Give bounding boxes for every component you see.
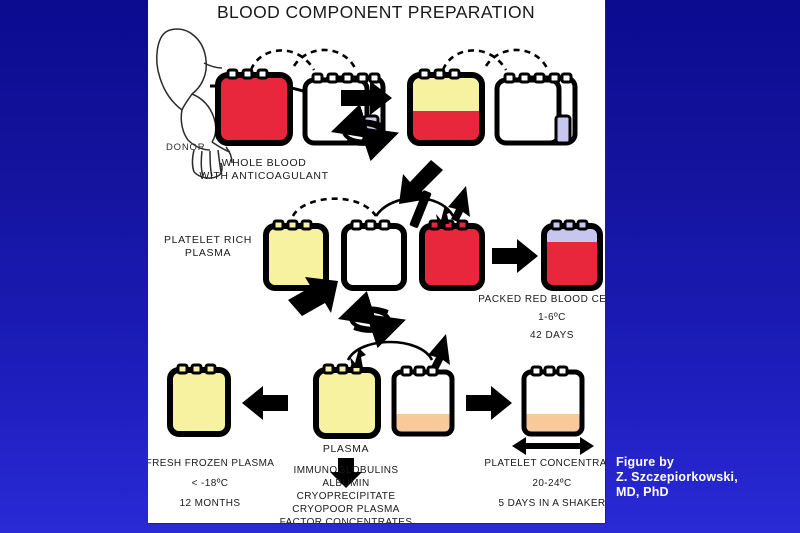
credit-line-3: MD, PhD [616, 485, 791, 500]
centrifuge-rotation-2-icon [351, 308, 389, 330]
derivative-item: FACTOR CONCENTRATES [280, 517, 413, 523]
whole-blood-label-2: WITH ANTICOAGULANT [199, 170, 328, 182]
arrow-up-right-pointer-icon [448, 186, 470, 222]
derivative-item: ALBUMIN [322, 478, 369, 489]
credit-line-1: Figure by [616, 455, 791, 470]
derivative-item: CRYOPRECIPITATE [297, 491, 396, 502]
platelet-temp: 20-24ºC [532, 478, 571, 489]
figure-credit: Figure by Z. Szczepiorkowski, MD, PhD [616, 455, 791, 500]
tubing-row1b [443, 50, 548, 70]
ffp-temp: < -18ºC [192, 478, 229, 489]
bag-packed-red-cells-icon [544, 221, 600, 288]
bag-platelet-concentrate-icon [524, 367, 582, 434]
derivative-item: CRYOPOOR PLASMA [292, 504, 400, 515]
bag-platelet-rich-plasma-icon [266, 221, 326, 288]
blood-bag-empty-icon [305, 74, 379, 143]
tubing-row1 [251, 50, 356, 70]
platelet-shelf: 5 DAYS IN A SHAKER [498, 498, 605, 509]
shaker-arrow-icon [512, 437, 594, 455]
bag-platelets-icon [394, 367, 452, 434]
slide-canvas: BLOOD COMPONENT PREPARATION [0, 0, 800, 533]
satellite-bag-2-icon [497, 74, 571, 143]
bag-empty-row2-icon [344, 221, 404, 288]
figure-panel: BLOOD COMPONENT PREPARATION [148, 0, 606, 524]
blood-bag-red-icon [218, 70, 290, 143]
ffp-shelf: 12 MONTHS [180, 498, 241, 509]
bag-plasma-icon [316, 365, 378, 436]
whole-blood-label-1: WHOLE BLOOD [222, 157, 307, 169]
packed-rbc-temp: 1-6ºC [538, 312, 566, 323]
packed-rbc-shelf: 42 DAYS [530, 330, 574, 341]
centrifuged-bag-icon [410, 70, 482, 143]
arrow-left-icon [242, 386, 288, 420]
plasma-derivatives-list: IMMUNOGLOBULINS ALBUMIN CRYOPRECIPITATE … [280, 465, 413, 523]
arrow-up-right-row3-icon [428, 334, 450, 370]
credit-line-2: Z. Szczepiorkowski, [616, 470, 791, 485]
figure-title: BLOOD COMPONENT PREPARATION [217, 2, 535, 22]
ffp-label: FRESH FROZEN PLASMA [148, 458, 274, 469]
arrow-right-platelet-icon [466, 386, 512, 420]
donor-label: DONOR [166, 142, 205, 153]
platelet-rich-label-1: PLATELET RICH [164, 234, 252, 246]
plasma-label: PLASMA [323, 443, 369, 455]
packed-rbc-label: PACKED RED BLOOD CELLS [478, 294, 605, 305]
bag-red-cells-row2-icon [422, 221, 482, 288]
arrow-right-prbc-icon [492, 239, 538, 273]
bag-fresh-frozen-plasma-icon [170, 365, 228, 434]
platelet-rich-label-2: PLASMA [185, 247, 231, 259]
blood-component-preparation-figure: BLOOD COMPONENT PREPARATION [148, 0, 605, 523]
tubing-row2 [293, 199, 376, 216]
platelet-concentrate-label: PLATELET CONCENTRATE [484, 458, 605, 469]
derivative-item: IMMUNOGLOBULINS [294, 465, 399, 476]
